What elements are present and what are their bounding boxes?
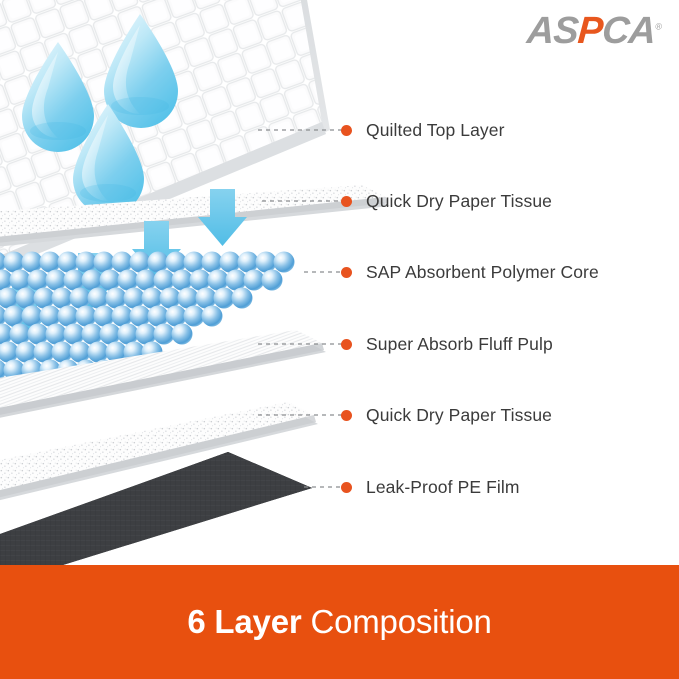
aspca-logo: ASPCA® [526,12,662,50]
layer-dot-icon [341,267,352,278]
callout-label: Quilted Top Layer [366,120,505,141]
bead-row [0,306,223,327]
callout-sap-absorbent-polymer-core: SAP Absorbent Polymer Core [341,261,599,283]
layer-dot-icon [341,410,352,421]
layer-dot-icon [341,482,352,493]
callout-label: Super Absorb Fluff Pulp [366,334,553,355]
layer-dot-icon [341,196,352,207]
callout-leak-proof-pe-film: Leak-Proof PE Film [341,476,520,498]
composition-banner: 6 Layer Composition [0,565,679,679]
callout-label: SAP Absorbent Polymer Core [366,262,599,283]
logo-text-as: AS [526,10,580,52]
callout-quick-dry-paper-tissue-lower: Quick Dry Paper Tissue [341,404,552,426]
callout-super-absorb-fluff-pulp: Super Absorb Fluff Pulp [341,333,553,355]
banner-headline-regular: Composition [310,603,491,640]
layer-dot-icon [341,339,352,350]
layer-dot-icon [341,125,352,136]
product-infographic: ASPCA® Quilted Top Layer Quick Dry Paper… [0,0,679,679]
callout-label: Leak-Proof PE Film [366,477,520,498]
banner-headline-bold: 6 Layer [187,603,301,640]
callout-label: Quick Dry Paper Tissue [366,191,552,212]
bead-row [0,252,295,273]
callout-label: Quick Dry Paper Tissue [366,405,552,426]
logo-trademark-icon: ® [655,21,661,31]
banner-headline: 6 Layer Composition [187,603,491,641]
logo-text-ca: CA [601,10,657,52]
callout-quilted-top-layer: Quilted Top Layer [341,119,505,141]
callout-quick-dry-paper-tissue-upper: Quick Dry Paper Tissue [341,190,552,212]
logo-text-p: P [577,10,604,52]
bead-row [0,288,253,309]
bead-row [0,270,283,291]
